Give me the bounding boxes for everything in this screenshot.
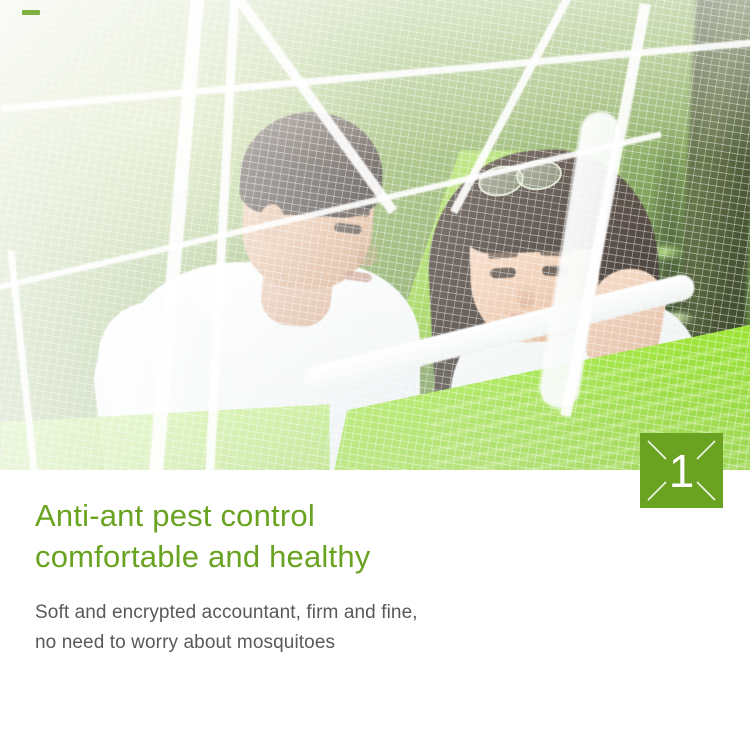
- feature-title: Anti-ant pest control comfortable and he…: [35, 495, 635, 577]
- woman-eye-left: [490, 267, 516, 278]
- badge-number-label: 1: [640, 433, 723, 508]
- green-dash-mark: [22, 10, 40, 15]
- product-feature-banner: 1 Anti-ant pest control comfortable and …: [0, 0, 750, 750]
- woman-nose: [518, 282, 534, 308]
- feature-subtitle: Soft and encrypted accountant, firm and …: [35, 598, 655, 658]
- text-panel: Anti-ant pest control comfortable and he…: [0, 470, 750, 750]
- product-photo: [0, 0, 750, 470]
- step-number-badge: 1: [640, 433, 723, 508]
- man-nose: [356, 238, 378, 266]
